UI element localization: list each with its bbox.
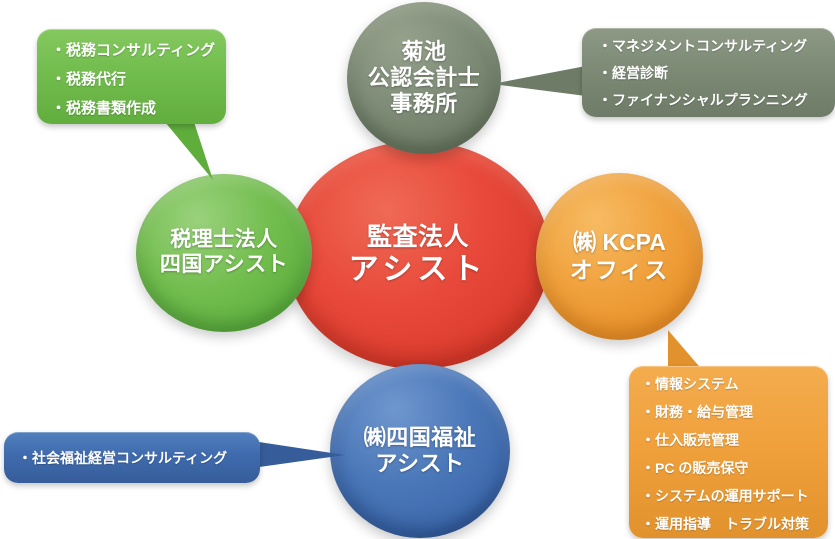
- bubble-left-line1: 税理士法人: [160, 228, 288, 253]
- callout-gray-item-1: ・経営診断: [598, 63, 835, 83]
- bubble-left-line2: 四国アシスト: [160, 253, 288, 278]
- callout-orange-item-3: ・PC の販売保守: [641, 458, 828, 478]
- bubble-right-line1: ㈱ KCPA: [570, 229, 670, 256]
- bubble-top-line1: 菊池: [368, 39, 481, 65]
- bubble-right-kcpa-office[interactable]: ㈱ KCPA オフィス: [536, 173, 703, 340]
- gray-callout-tail: [492, 66, 586, 96]
- callout-blue-welfare-consulting[interactable]: ・社会福祉経営コンサルティング: [4, 432, 260, 483]
- callout-green-item-0: ・税務コンサルティング: [51, 39, 226, 60]
- bubble-top-kikuchi-cpa[interactable]: 菊池 公認会計士 事務所: [347, 2, 501, 154]
- green-callout-tail: [160, 116, 213, 180]
- callout-orange-item-0: ・情報システム: [641, 374, 828, 394]
- callout-orange-item-2: ・仕入販売管理: [641, 430, 828, 450]
- bubble-right-line2: オフィス: [570, 257, 670, 284]
- bubble-bottom-line2: アシスト: [364, 451, 477, 477]
- bubble-top-line3: 事務所: [368, 91, 481, 117]
- bubble-bottom-shikoku-fukushi[interactable]: ㈱四国福祉 アシスト: [330, 364, 510, 538]
- callout-orange-item-5: ・運用指導 トラブル対策: [641, 514, 828, 534]
- callout-orange-it-services[interactable]: ・情報システム ・財務・給与管理 ・仕入販売管理 ・PC の販売保守 ・システム…: [629, 366, 828, 538]
- bubble-center-line1: 監査法人: [349, 223, 488, 253]
- bubble-left-tax-corp[interactable]: 税理士法人 四国アシスト: [136, 174, 312, 332]
- bubble-center-line2: アシスト: [349, 252, 488, 287]
- callout-orange-item-4: ・システムの運用サポート: [641, 486, 828, 506]
- bubble-top-line2: 公認会計士: [368, 65, 481, 91]
- callout-gray-item-0: ・マネジメントコンサルティング: [598, 36, 835, 56]
- callout-gray-item-2: ・ファイナンシャルプランニング: [598, 90, 835, 110]
- diagram-canvas: 監査法人 アシスト 菊池 公認会計士 事務所 税理士法人 四国アシスト ㈱ KC…: [0, 0, 835, 539]
- callout-gray-management-services[interactable]: ・マネジメントコンサルティング ・経営診断 ・ファイナンシャルプランニング: [582, 28, 835, 117]
- callout-orange-item-1: ・財務・給与管理: [641, 402, 828, 422]
- bubble-bottom-line1: ㈱四国福祉: [364, 425, 477, 451]
- bubble-center-audit-corp[interactable]: 監査法人 アシスト: [286, 141, 550, 369]
- callout-green-item-1: ・税務代行: [51, 68, 226, 89]
- callout-green-item-2: ・税務書類作成: [51, 97, 226, 118]
- callout-blue-item-0: ・社会福祉経営コンサルティング: [18, 448, 227, 468]
- callout-green-tax-services[interactable]: ・税務コンサルティング ・税務代行 ・税務書類作成: [37, 29, 226, 124]
